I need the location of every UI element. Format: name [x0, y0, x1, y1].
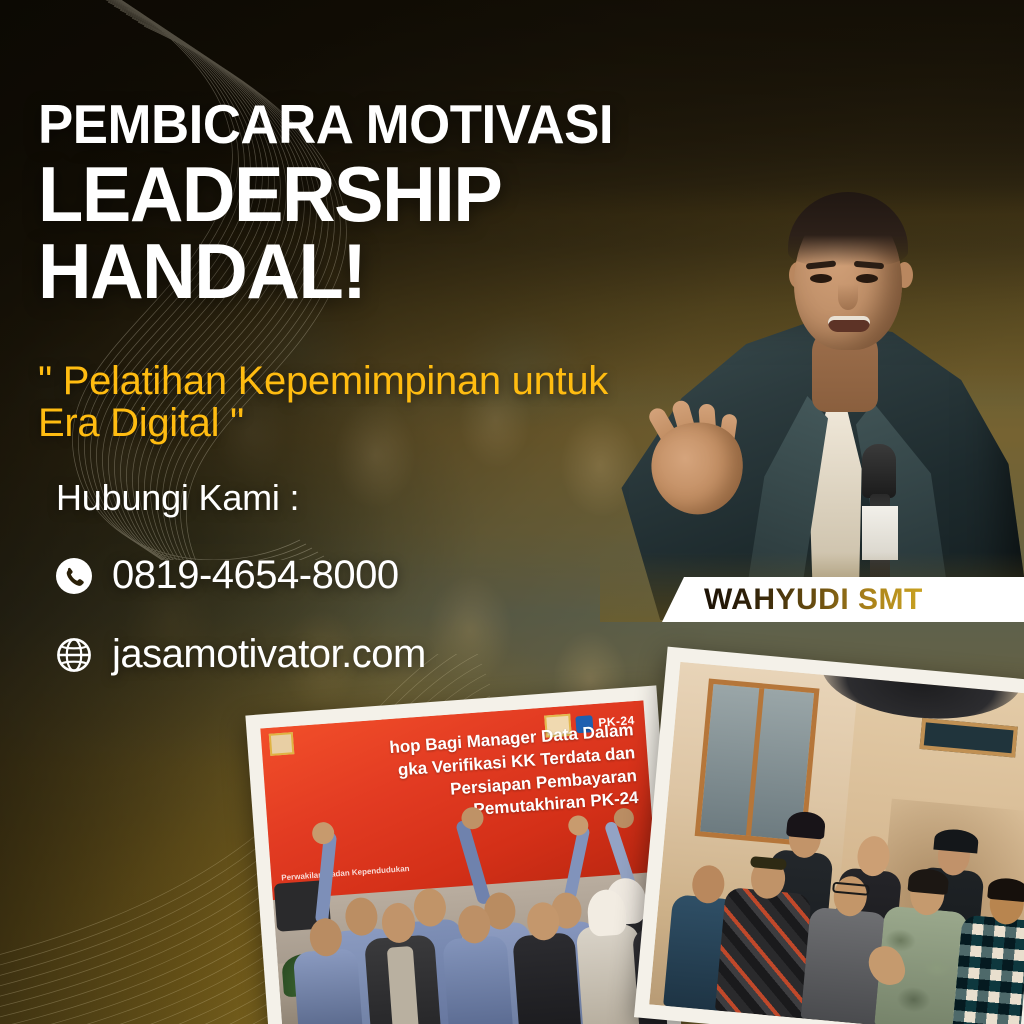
speaker-mouth [828, 316, 870, 332]
website-url: jasamotivator.com [112, 632, 426, 677]
person-cap-icon [933, 828, 979, 854]
headline-line-2: LEADERSHIP [38, 156, 760, 232]
person-hair [786, 810, 826, 839]
subtitle-tagline: " Pelatihan Kepemimpinan untuk Era Digit… [38, 360, 678, 445]
contact-row-website[interactable]: jasamotivator.com [56, 632, 576, 677]
person-patterned-shirt [715, 887, 812, 1018]
photo-card-group-image: PK-24 hop Bagi Manager Data Dalam gka Ve… [260, 700, 667, 1024]
group-photo-person-front-1 [290, 904, 365, 1024]
person-body [442, 935, 514, 1024]
person-hair [907, 867, 949, 895]
contact-block: Hubungi Kami : 0819-4654-8000 jasamotiva… [56, 477, 576, 677]
contact-row-phone[interactable]: 0819-4654-8000 [56, 553, 576, 598]
speaker-name-badge: WAHYUDI SMT [662, 577, 1024, 622]
headline-block: PEMBICARA MOTIVASI LEADERSHIP HANDAL! [38, 96, 798, 309]
globe-icon [56, 637, 92, 673]
speaker-nose [838, 284, 858, 310]
person-body [293, 948, 365, 1024]
phone-icon [56, 558, 92, 594]
person-plaid-shirt [952, 914, 1024, 1024]
speaker-hair [788, 192, 908, 266]
microphone-head-icon [862, 444, 896, 498]
phone-number: 0819-4654-8000 [112, 553, 399, 598]
audience-person-seat-2 [715, 849, 815, 1018]
photo-card-group[interactable]: PK-24 hop Bagi Manager Data Dalam gka Ve… [245, 685, 682, 1024]
person-hair [987, 877, 1024, 903]
group-photo-person-front-2 [361, 888, 443, 1024]
poster-root: PEMBICARA MOTIVASI LEADERSHIP HANDAL! " … [0, 0, 1024, 1024]
speaker-name-text: WAHYUDI SMT [704, 583, 923, 617]
person-hijab [586, 888, 627, 937]
speaker-eye-left [810, 274, 832, 283]
photo-card-audience-image [649, 662, 1024, 1024]
group-photo-person-front-3 [439, 891, 514, 1024]
speaker-eye-right [856, 274, 878, 283]
group-photo-person-front-4 [509, 888, 582, 1024]
contact-heading: Hubungi Kami : [56, 477, 576, 519]
headline-line-3: HANDAL! [38, 233, 760, 309]
headline-line-1: PEMBICARA MOTIVASI [38, 96, 768, 152]
photo-card-audience[interactable] [634, 647, 1024, 1024]
person-body [512, 932, 582, 1024]
